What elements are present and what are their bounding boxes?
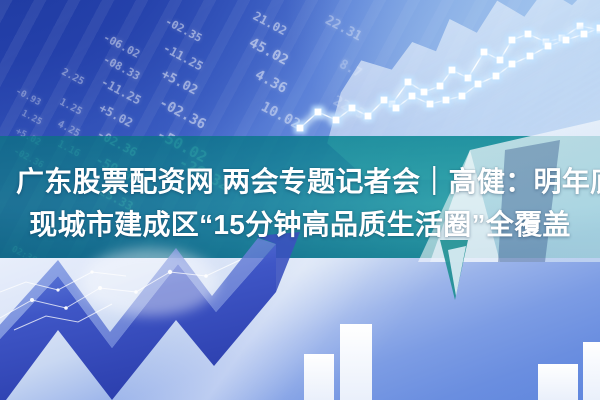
headline-line-2: 现城市建成区“15分钟高品质生活圈”全覆盖 (6, 203, 594, 246)
network-glow (82, 248, 218, 316)
bar-2 (340, 324, 372, 400)
news-banner: -0.931.25+5.02-02.362.251.254.251.16-06.… (0, 0, 600, 400)
headline-line-1: 广东股票配资网 两会专题记者会｜高健：明年底实 (6, 160, 594, 203)
bar-4 (583, 342, 600, 400)
bar-1 (304, 354, 334, 400)
bar-3 (538, 364, 578, 400)
headline: 广东股票配资网 两会专题记者会｜高健：明年底实 现城市建成区“15分钟高品质生活… (0, 160, 600, 246)
bar-chart-bars (304, 324, 600, 400)
